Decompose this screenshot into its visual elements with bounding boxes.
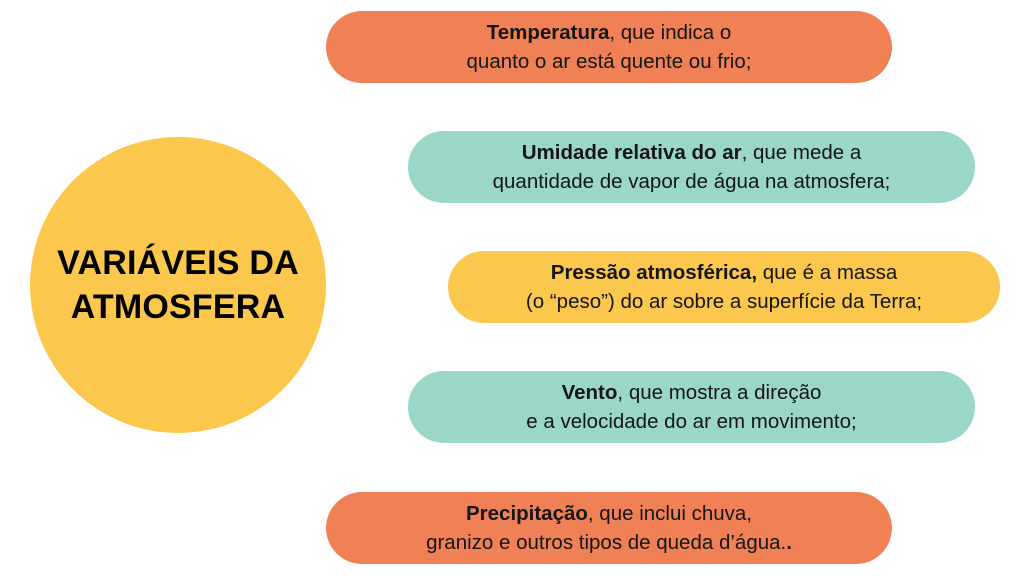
item-pill-precipitacao: Precipitação, que inclui chuva, granizo … bbox=[326, 492, 892, 564]
item-line-2: e a velocidade do ar em movimento; bbox=[526, 407, 856, 436]
central-node-label: VARIÁVEIS DA ATMOSFERA bbox=[57, 241, 299, 329]
item-line-1: Umidade relativa do ar, que mede a bbox=[522, 138, 862, 167]
item-term: Pressão atmosférica, bbox=[551, 261, 757, 284]
item-line-1: Precipitação, que inclui chuva, bbox=[466, 499, 752, 528]
item-line-2-text: granizo e outros tipos de queda d’água. bbox=[426, 531, 786, 554]
item-pill-vento: Vento, que mostra a direção e a velocida… bbox=[408, 371, 975, 443]
item-line-2-emphasis: . bbox=[786, 531, 792, 554]
item-pill-temperatura: Temperatura, que indica o quanto o ar es… bbox=[326, 11, 892, 83]
item-term: Temperatura bbox=[487, 21, 610, 44]
item-line-1: Pressão atmosférica, que é a massa bbox=[551, 258, 897, 287]
item-term: Umidade relativa do ar bbox=[522, 141, 742, 164]
item-term-continuation: , que mede a bbox=[742, 141, 862, 164]
item-pill-pressao-atmosferica: Pressão atmosférica, que é a massa (o “p… bbox=[448, 251, 1000, 323]
item-pill-umidade-relativa-do-ar: Umidade relativa do ar, que mede a quant… bbox=[408, 131, 975, 203]
item-line-1: Vento, que mostra a direção bbox=[562, 378, 822, 407]
infographic-canvas: VARIÁVEIS DA ATMOSFERA Temperatura, que … bbox=[0, 0, 1024, 576]
item-line-1: Temperatura, que indica o bbox=[487, 18, 732, 47]
item-term-continuation: , que mostra a direção bbox=[617, 381, 821, 404]
item-term: Precipitação bbox=[466, 502, 588, 525]
item-line-2: quanto o ar está quente ou frio; bbox=[467, 47, 752, 76]
item-term-continuation: que é a massa bbox=[757, 261, 897, 284]
item-line-2: (o “peso”) do ar sobre a superfície da T… bbox=[526, 287, 922, 316]
central-node-variaveis-da-atmosfera: VARIÁVEIS DA ATMOSFERA bbox=[30, 137, 326, 433]
item-term: Vento bbox=[562, 381, 618, 404]
item-line-2: quantidade de vapor de água na atmosfera… bbox=[493, 167, 891, 196]
item-term-continuation: , que indica o bbox=[609, 21, 731, 44]
item-line-2: granizo e outros tipos de queda d’água.. bbox=[426, 528, 792, 557]
item-term-continuation: , que inclui chuva, bbox=[588, 502, 752, 525]
